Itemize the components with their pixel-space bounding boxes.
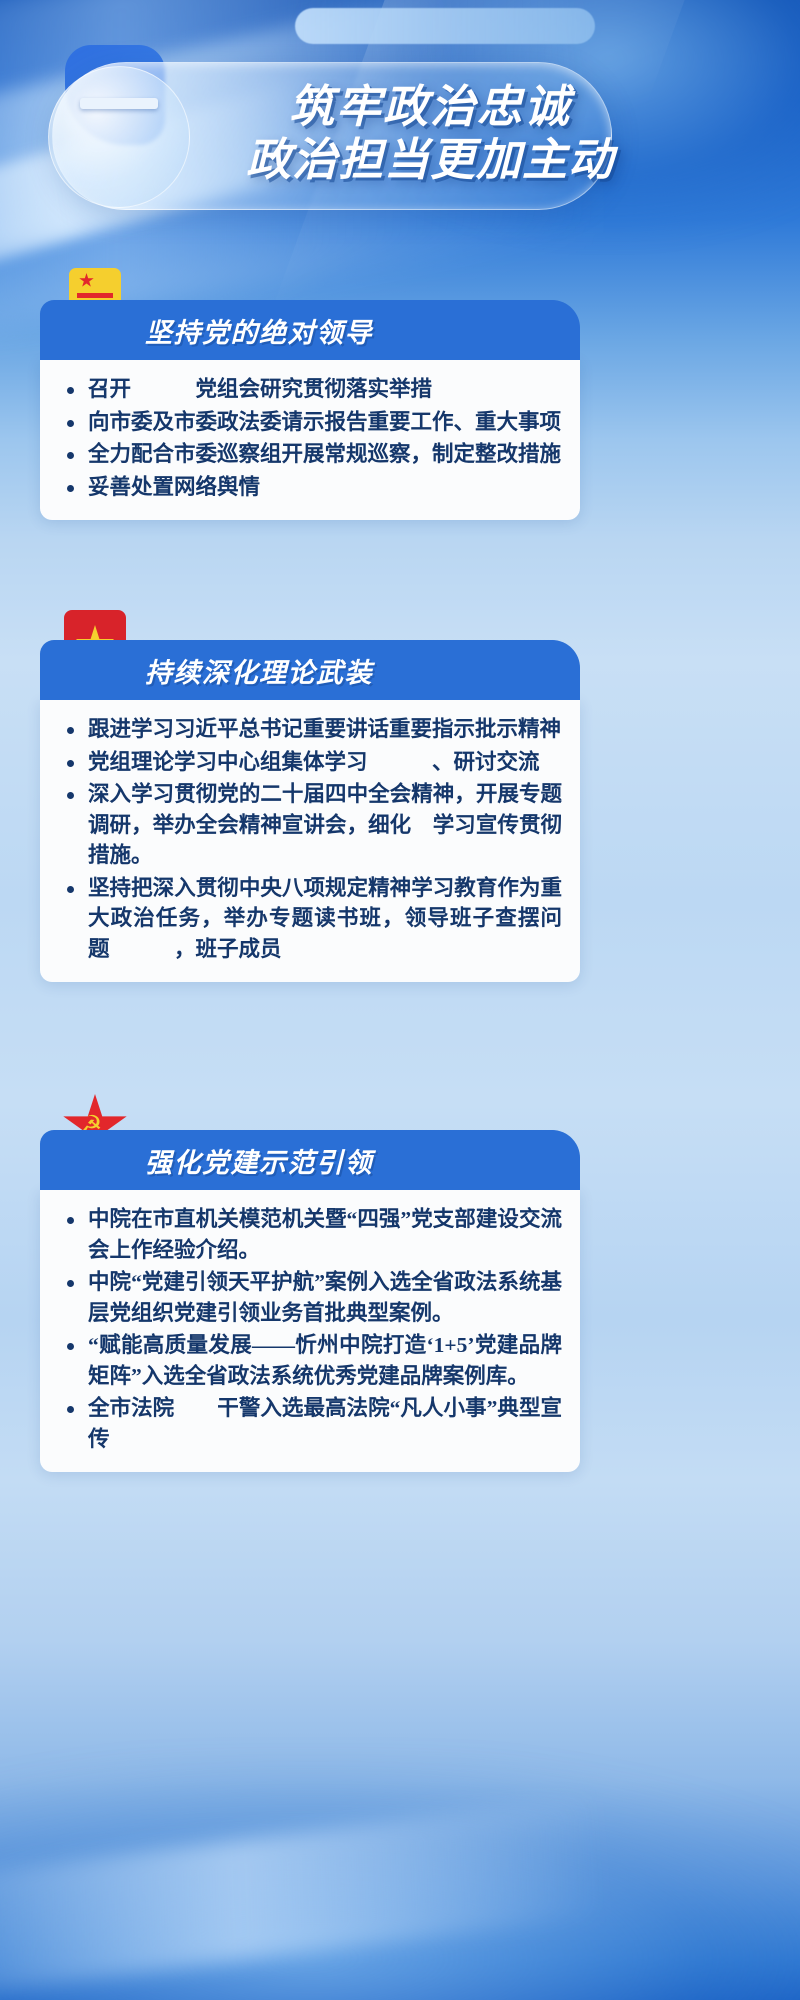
card-3-bullet-list: 中院在市直机关模范机关暨“四强”党支部建设交流会上作经验介绍。 中院“党建引领天… [58,1204,562,1454]
card-1-bullet-list: 召开 党组会研究贯彻落实举措 向市委及市委政法委请示报告重要工作、重大事项 全力… [58,374,562,502]
card-2-header: 持续深化理论武装 [40,640,580,700]
page-title: 筑牢政治忠诚 政治担当更加主动 [0,80,800,186]
background-bottom-glow [0,1760,800,2000]
list-item: 深入学习贯彻党的二十届四中全会精神，开展专题调研，举办全会精神宣讲会，细化 学习… [58,779,562,871]
card-1-header: 坚持党的绝对领导 [40,300,580,360]
card-2-title: 持续深化理论武装 [145,651,373,690]
list-item: 跟进学习习近平总书记重要讲话重要指示批示精神 [58,714,562,745]
card-section-3: ☭ 强化党建示范引领 中院在市直机关模范机关暨“四强”党支部建设交流会上作经验介… [40,1130,580,1472]
card-1-body: 召开 党组会研究贯彻落实举措 向市委及市委政法委请示报告重要工作、重大事项 全力… [40,360,580,520]
list-item: 妥善处置网络舆情 [58,472,562,503]
card-1-title: 坚持党的绝对领导 [145,311,373,350]
card-3-title: 强化党建示范引领 [145,1141,373,1180]
background-bottom-ray [0,1797,605,2000]
list-item: 向市委及市委政法委请示报告重要工作、重大事项 [58,407,562,438]
list-item: 中院“党建引领天平护航”案例入选全省政法系统基层党组织党建引领业务首批典型案例。 [58,1267,562,1328]
list-item: “赋能高质量发展——忻州中院打造‘1+5’党建品牌矩阵”入选全省政法系统优秀党建… [58,1330,562,1391]
title-line-2: 政治担当更加主动 [60,133,800,186]
card-3-body: 中院在市直机关模范机关暨“四强”党支部建设交流会上作经验介绍。 中院“党建引领天… [40,1190,580,1472]
card-section-1: 坚持党的绝对领导 召开 党组会研究贯彻落实举措 向市委及市委政法委请示报告重要工… [40,300,580,520]
card-2-bullet-list: 跟进学习习近平总书记重要讲话重要指示批示精神 党组理论学习中心组集体学习 、研讨… [58,714,562,964]
card-section-2: 持续深化理论武装 跟进学习习近平总书记重要讲话重要指示批示精神 党组理论学习中心… [40,640,580,982]
list-item: 坚持把深入贯彻中央八项规定精神学习教育作为重大政治任务，举办专题读书班，领导班子… [58,873,562,965]
card-3-header: 强化党建示范引领 [40,1130,580,1190]
list-item: 中院在市直机关模范机关暨“四强”党支部建设交流会上作经验介绍。 [58,1204,562,1265]
list-item: 召开 党组会研究贯彻落实举措 [58,374,562,405]
list-item: 全市法院 干警入选最高法院“凡人小事”典型宣传 [58,1393,562,1454]
list-item: 全力配合市委巡察组开展常规巡察，制定整改措施 [58,439,562,470]
title-line-1: 筑牢政治忠诚 [60,80,800,133]
card-2-body: 跟进学习习近平总书记重要讲话重要指示批示精神 党组理论学习中心组集体学习 、研讨… [40,700,580,982]
poster-root: 筑牢政治忠诚 政治担当更加主动 坚持党的绝对领导 召开 党组会研究贯彻落实举措 … [0,0,800,2000]
poster-header: 筑牢政治忠诚 政治担当更加主动 [0,0,800,262]
list-item: 党组理论学习中心组集体学习 、研讨交流 [58,747,562,778]
